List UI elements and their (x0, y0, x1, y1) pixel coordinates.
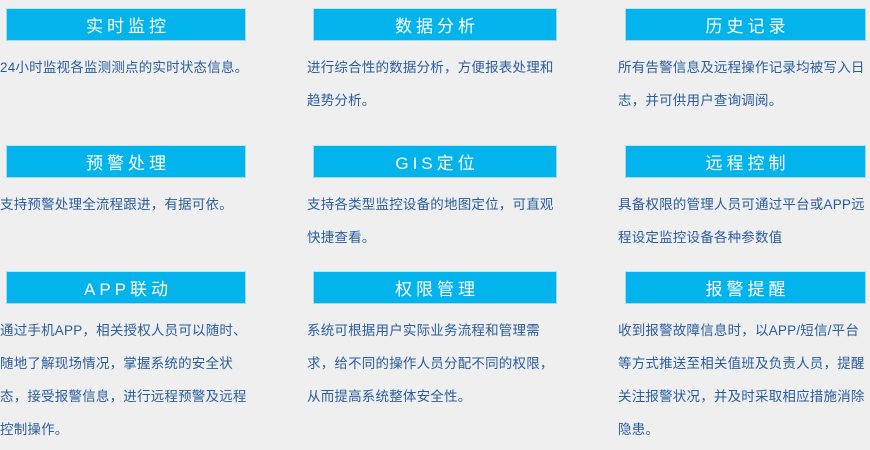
feature-card-gis-positioning[interactable]: GIS定位 支持各类型监控设备的地图定位，可直观快捷查看。 (305, 137, 565, 264)
feature-card-body: 24小时监视各监测测点的实时状态信息。 (0, 51, 260, 84)
feature-card-title: 预警处理 (6, 145, 246, 178)
grid-gap (260, 264, 305, 450)
grid-gap (565, 264, 615, 450)
feature-card-body: 所有告警信息及远程操作记录均被写入日志，并可供用户查询调阅。 (615, 51, 870, 117)
feature-card-title: 历史记录 (625, 8, 866, 41)
grid-gap (260, 137, 305, 264)
feature-card-title: 远程控制 (625, 145, 866, 178)
feature-card-permission-management[interactable]: 权限管理 系统可根据用户实际业务流程和管理需求，给不同的操作人员分配不同的权限，… (305, 264, 565, 450)
feature-card-body: 具备权限的管理人员可通过平台或APP远程设定监控设备各种参数值 (615, 188, 870, 254)
feature-card-body: 进行综合性的数据分析，方便报表处理和趋势分析。 (305, 51, 565, 117)
feature-card-data-analysis[interactable]: 数据分析 进行综合性的数据分析，方便报表处理和趋势分析。 (305, 0, 565, 137)
feature-card-app-linkage[interactable]: APP联动 通过手机APP，相关授权人员可以随时、随地了解现场情况，掌握系统的安… (0, 264, 260, 450)
feature-card-title: APP联动 (6, 271, 246, 304)
feature-card-history-records[interactable]: 历史记录 所有告警信息及远程操作记录均被写入日志，并可供用户查询调阅。 (615, 0, 870, 137)
feature-card-remote-control[interactable]: 远程控制 具备权限的管理人员可通过平台或APP远程设定监控设备各种参数值 (615, 137, 870, 264)
feature-card-title: 报警提醒 (625, 271, 866, 304)
feature-card-early-warning-handling[interactable]: 预警处理 支持预警处理全流程跟进，有据可依。 (0, 137, 260, 264)
feature-card-body: 通过手机APP，相关授权人员可以随时、随地了解现场情况，掌握系统的安全状态，接受… (0, 314, 260, 446)
feature-card-body: 支持预警处理全流程跟进，有据可依。 (0, 188, 260, 221)
feature-card-alarm-reminder[interactable]: 报警提醒 收到报警故障信息时，以APP/短信/平台等方式推送至相关值班及负责人员… (615, 264, 870, 450)
feature-card-title: 权限管理 (313, 271, 557, 304)
feature-card-body: 收到报警故障信息时，以APP/短信/平台等方式推送至相关值班及负责人员，提醒关注… (615, 314, 870, 446)
feature-card-body: 支持各类型监控设备的地图定位，可直观快捷查看。 (305, 188, 565, 254)
feature-grid: 实时监控 24小时监视各监测测点的实时状态信息。 数据分析 进行综合性的数据分析… (0, 0, 870, 450)
grid-gap (260, 0, 305, 137)
feature-card-title: 实时监控 (6, 8, 246, 41)
grid-gap (565, 137, 615, 264)
feature-card-title: 数据分析 (313, 8, 557, 41)
feature-card-real-time-monitoring[interactable]: 实时监控 24小时监视各监测测点的实时状态信息。 (0, 0, 260, 137)
grid-gap (565, 0, 615, 137)
feature-card-title: GIS定位 (313, 145, 557, 178)
feature-card-body: 系统可根据用户实际业务流程和管理需求，给不同的操作人员分配不同的权限，从而提高系… (305, 314, 565, 413)
